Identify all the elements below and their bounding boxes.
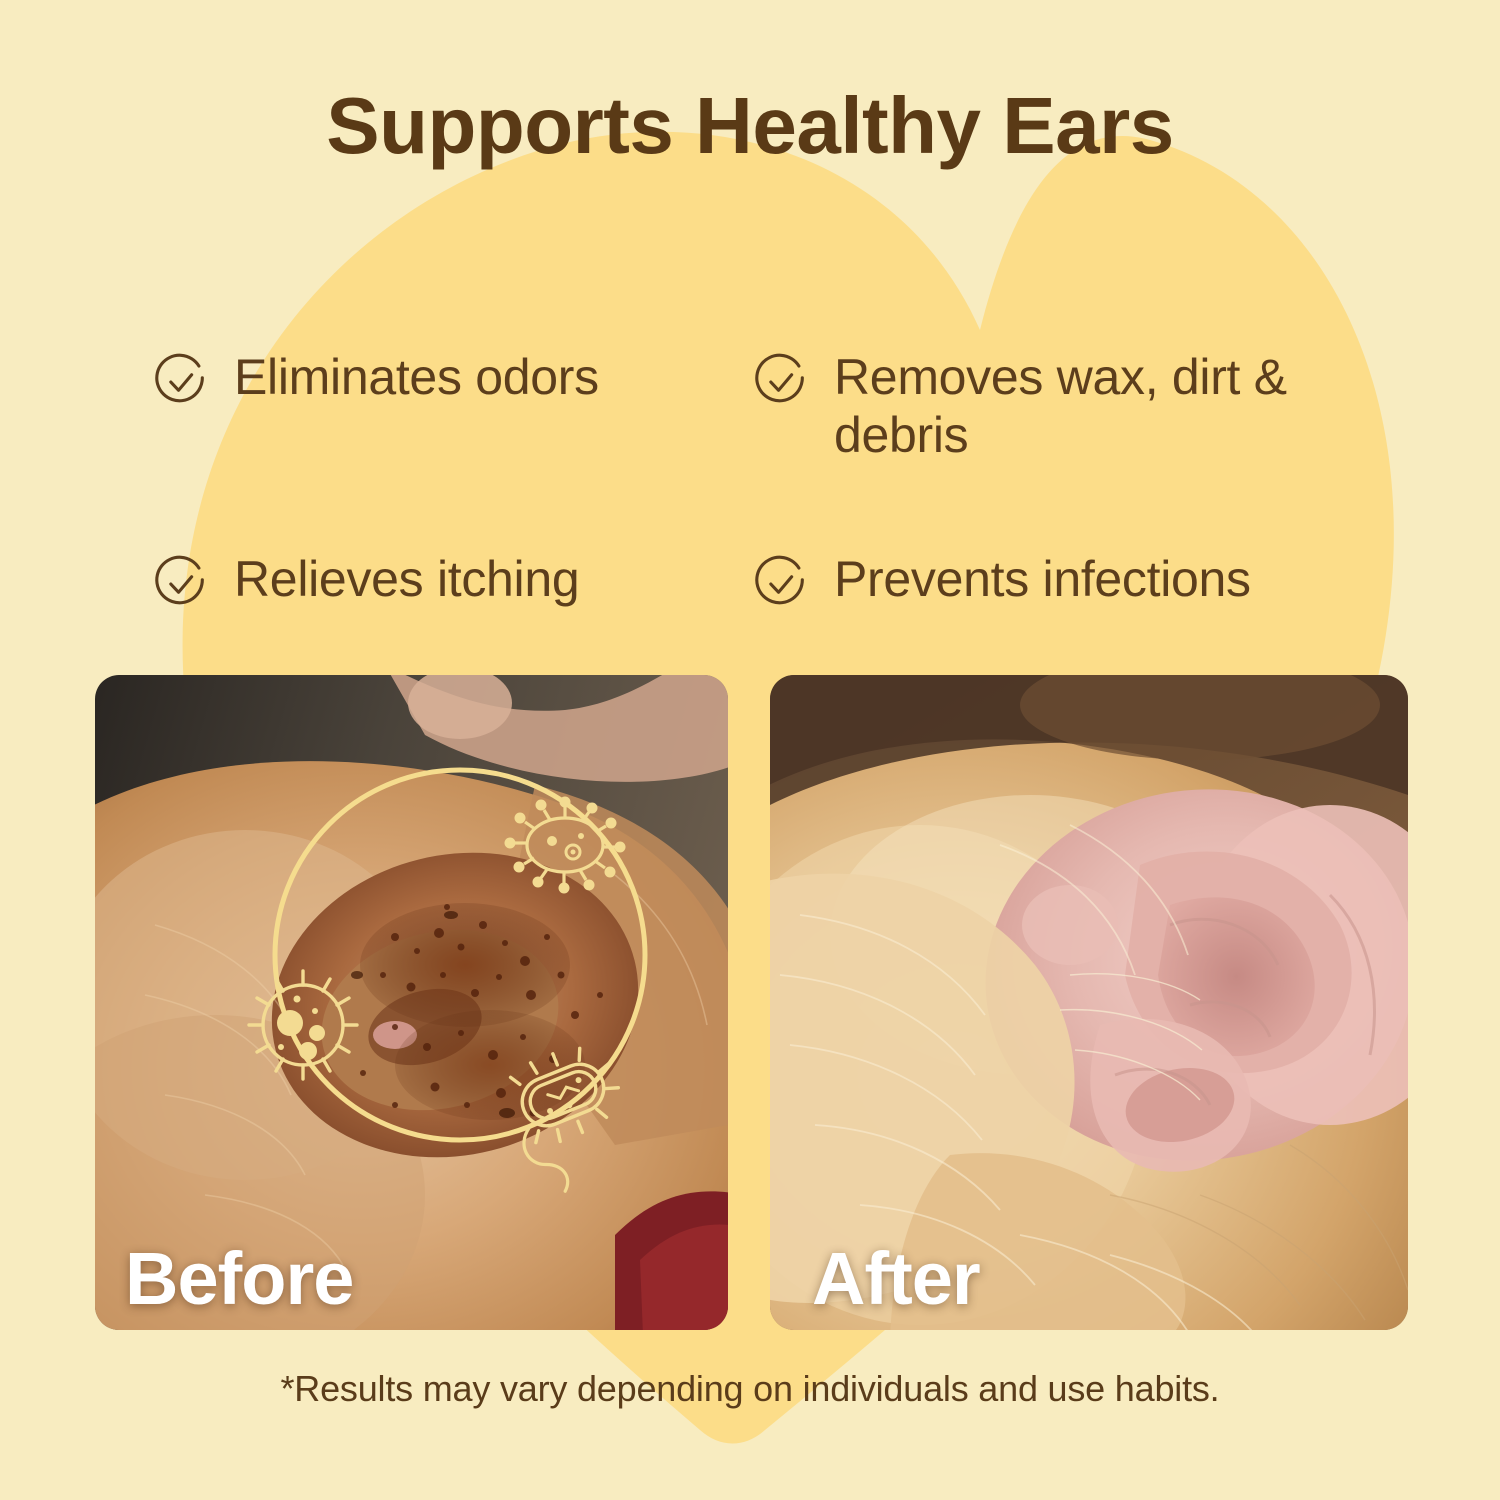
check-circle-icon [750,352,812,414]
after-photo [770,675,1408,1330]
benefit-label: Prevents infections [834,550,1251,608]
benefit-item-relieves-itching: Relieves itching [150,550,750,616]
benefit-label: Eliminates odors [234,348,599,406]
before-photo-panel: Before [95,675,728,1330]
check-circle-icon [150,352,212,414]
before-label: Before [125,1242,353,1316]
benefit-label: Removes wax, dirt & debris [834,348,1364,464]
check-circle-icon [150,554,212,616]
benefits-list: Eliminates odors Removes wax, dirt & deb… [150,348,1370,616]
page-title: Supports Healthy Ears [0,86,1500,166]
benefit-label: Relieves itching [234,550,579,608]
benefit-item-eliminates-odors: Eliminates odors [150,348,750,464]
disclaimer-text: *Results may vary depending on individua… [0,1368,1500,1410]
check-circle-icon [750,554,812,616]
before-photo [95,675,728,1330]
benefit-item-removes-wax-dirt-debris: Removes wax, dirt & debris [750,348,1370,464]
after-label: After [812,1242,980,1316]
benefit-item-prevents-infections: Prevents infections [750,550,1370,616]
after-photo-panel: After [770,675,1408,1330]
